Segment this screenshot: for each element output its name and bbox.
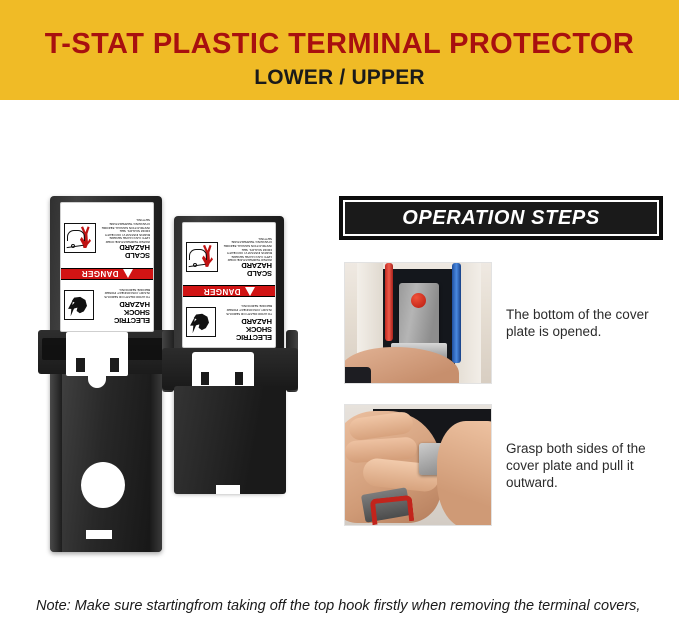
lower-cover-bottom-notch (86, 530, 112, 539)
right-hand (437, 421, 492, 526)
warning-scald-body: WATER TEMPERATURE OVER 125°F CAN CAUSE S… (98, 218, 150, 243)
lower-cover-center-notch (88, 362, 106, 388)
upper-cover-bottom-notch (216, 485, 240, 494)
warning-scald-section: SCALD HAZARD WATER TEMPERATURE OVER 125°… (183, 228, 275, 285)
operation-steps-banner-inner: OPERATION STEPS (343, 200, 659, 236)
upper-cover-body (174, 386, 286, 494)
upper-cover-tab-left (201, 372, 209, 385)
header-banner: T-STAT PLASTIC TERMINAL PROTECTOR LOWER … (0, 0, 679, 100)
warning-label-upper: ELECTRIC SHOCK HAZARD TO AVOID DEATH OR … (182, 222, 276, 348)
page-root: T-STAT PLASTIC TERMINAL PROTECTOR LOWER … (0, 0, 679, 639)
page-title: T-STAT PLASTIC TERMINAL PROTECTOR (0, 28, 679, 61)
danger-band: DANGER (61, 268, 153, 280)
blue-cold-water-pipe (452, 263, 461, 363)
warning-electric-section: ELECTRIC SHOCK HAZARD TO AVOID DEATH OR … (183, 297, 275, 347)
step-row-1: The bottom of the cover plate is opened. (344, 262, 656, 384)
warning-electric-heading-3: HAZARD (218, 317, 272, 325)
warning-triangle-icon (245, 287, 255, 296)
danger-band: DANGER (183, 285, 275, 297)
step-row-2: Grasp both sides of the cover plate and … (344, 404, 656, 526)
warning-scald-heading-1: SCALD (220, 269, 272, 277)
red-tool-handle (370, 495, 414, 525)
lower-cover-left-edge (50, 370, 62, 552)
step-caption-1: The bottom of the cover plate is opened. (506, 262, 656, 340)
lower-cover-access-hole (81, 462, 125, 508)
danger-label: DANGER (81, 269, 118, 278)
scald-hazard-icon (186, 242, 218, 272)
operation-steps-label: OPERATION STEPS (402, 207, 600, 230)
electric-shock-hand-icon (186, 307, 216, 337)
step-photo-grasp-pull (344, 404, 492, 526)
warning-electric-subtext: TO AVOID DEATH OR SERIOUS INJURY, DISCON… (96, 287, 150, 298)
warning-electric-heading-2: SHOCK (218, 325, 272, 333)
lower-cover-right-edge (150, 370, 162, 552)
warning-electric-heading-1: ELECTRIC (218, 333, 272, 341)
upper-cover-tab-right (235, 372, 243, 385)
warning-electric-heading-1: ELECTRIC (96, 316, 150, 324)
lower-cover-tab-right (110, 358, 119, 372)
warning-scald-heading-2: HAZARD (98, 243, 150, 251)
page-subtitle: LOWER / UPPER (0, 66, 679, 90)
red-hot-water-pipe (385, 263, 393, 341)
reset-button (411, 293, 426, 308)
warning-label-lower: ELECTRIC SHOCK HAZARD TO AVOID DEATH OR … (60, 202, 154, 332)
step-caption-2: Grasp both sides of the cover plate and … (506, 404, 656, 491)
operation-steps-banner: OPERATION STEPS (339, 196, 663, 240)
warning-scald-body: WATER TEMPERATURE OVER 125°F CAN CAUSE S… (220, 236, 272, 261)
step-photo-open-bottom (344, 262, 492, 384)
warning-electric-heading-2: SHOCK (96, 308, 150, 316)
scald-hazard-icon (64, 223, 96, 253)
footer-note: Note: Make sure startingfrom taking off … (36, 596, 648, 617)
danger-label: DANGER (203, 287, 240, 296)
warning-triangle-icon (123, 269, 133, 278)
warning-scald-heading-1: SCALD (98, 251, 150, 259)
warning-electric-subtext: TO AVOID DEATH OR SERIOUS INJURY, DISCON… (218, 304, 272, 315)
warning-scald-section: SCALD HAZARD WATER TEMPERATURE OVER 125°… (61, 209, 153, 268)
warning-scald-heading-2: HAZARD (220, 261, 272, 269)
lower-cover-tab-left (76, 358, 85, 372)
warning-electric-section: ELECTRIC SHOCK HAZARD TO AVOID DEATH OR … (61, 280, 153, 331)
thermostat-cover-plate (399, 283, 439, 349)
product-photo-group: ELECTRIC SHOCK HAZARD TO AVOID DEATH OR … (24, 180, 324, 550)
warning-electric-heading-3: HAZARD (96, 300, 150, 308)
electric-shock-hand-icon (64, 290, 94, 320)
